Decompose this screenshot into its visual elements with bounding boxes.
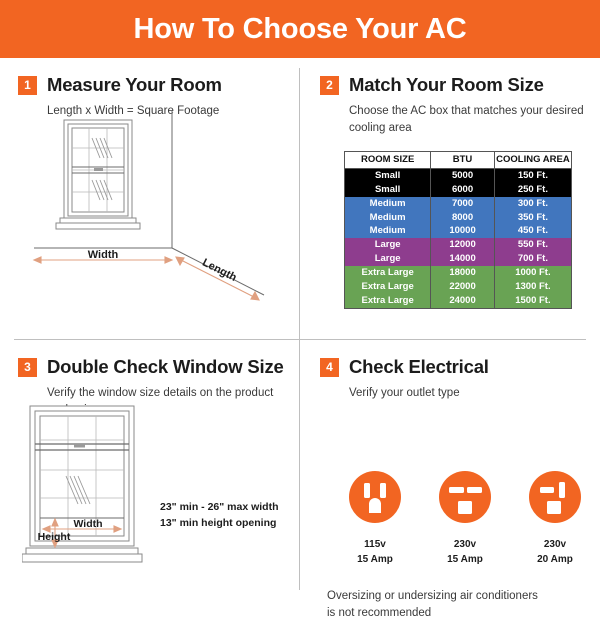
cell-area: 700 Ft. bbox=[494, 252, 571, 266]
content-grid: 1 Measure Your Room Length x Width = Squ… bbox=[0, 58, 600, 600]
cell-room-size: Extra Large bbox=[345, 266, 431, 280]
step-3-header: 3 Double Check Window Size bbox=[0, 340, 299, 378]
step-3-badge: 3 bbox=[18, 358, 37, 377]
step-4-title: Check Electrical bbox=[349, 356, 489, 378]
step-3-panel: 3 Double Check Window Size Verify the wi… bbox=[0, 340, 299, 600]
outlet-2-caption: 230v 15 Amp bbox=[425, 538, 505, 567]
step-2-header: 2 Match Your Room Size bbox=[300, 58, 600, 96]
cell-btu: 22000 bbox=[431, 280, 495, 294]
step-2-badge: 2 bbox=[320, 76, 339, 95]
cell-room-size: Medium bbox=[345, 211, 431, 225]
cell-btu: 12000 bbox=[431, 238, 495, 252]
col-btu: BTU bbox=[431, 152, 495, 169]
step-1-title: Measure Your Room bbox=[47, 74, 222, 96]
outlet-1-caption: 115v 15 Amp bbox=[335, 538, 415, 567]
table-row: Medium 7000 300 Ft. bbox=[345, 197, 572, 211]
step-4-subtitle: Verify your outlet type bbox=[349, 385, 600, 402]
cell-room-size: Small bbox=[345, 183, 431, 197]
window-size-diagram: Width Height bbox=[22, 400, 162, 570]
cell-btu: 5000 bbox=[431, 168, 495, 182]
window-height-label: Height bbox=[38, 531, 71, 543]
step-1-panel: 1 Measure Your Room Length x Width = Squ… bbox=[0, 58, 299, 339]
cell-area: 1300 Ft. bbox=[494, 280, 571, 294]
outlet-230v-15amp-icon bbox=[438, 470, 492, 524]
table-row: Large 12000 550 Ft. bbox=[345, 238, 572, 252]
outlet-3-amps: 20 Amp bbox=[515, 553, 595, 568]
outlet-option-3: 230v 20 Amp bbox=[515, 470, 595, 567]
cell-room-size: Extra Large bbox=[345, 294, 431, 308]
page-title: How To Choose Your AC bbox=[133, 13, 466, 46]
table-row: Extra Large 24000 1500 Ft. bbox=[345, 294, 572, 308]
cell-room-size: Small bbox=[345, 168, 431, 182]
step-4-badge: 4 bbox=[320, 358, 339, 377]
cell-btu: 8000 bbox=[431, 211, 495, 225]
cell-area: 1500 Ft. bbox=[494, 294, 571, 308]
step-1-badge: 1 bbox=[18, 76, 37, 95]
step-2-subtitle: Choose the AC box that matches your desi… bbox=[349, 103, 600, 136]
step-3-title: Double Check Window Size bbox=[47, 356, 284, 378]
table-row: Extra Large 18000 1000 Ft. bbox=[345, 266, 572, 280]
table-row: Medium 10000 450 Ft. bbox=[345, 224, 572, 238]
outlet-2-volts: 230v bbox=[425, 538, 505, 553]
cell-area: 300 Ft. bbox=[494, 197, 571, 211]
window-width-label: Width bbox=[73, 518, 102, 530]
room-measurement-diagram: Width Length bbox=[14, 110, 294, 310]
step-4-panel: 4 Check Electrical Verify your outlet ty… bbox=[300, 340, 600, 600]
table-row: Small 5000 150 Ft. bbox=[345, 168, 572, 182]
cell-btu: 18000 bbox=[431, 266, 495, 280]
outlet-types-group: 115v 15 Amp 230v 15 Amp bbox=[330, 470, 600, 567]
table-row: Extra Large 22000 1300 Ft. bbox=[345, 280, 572, 294]
step-2-title: Match Your Room Size bbox=[349, 74, 544, 96]
cell-room-size: Large bbox=[345, 238, 431, 252]
cell-room-size: Medium bbox=[345, 197, 431, 211]
window-dimension-note: 23" min - 26" max width 13" min height o… bbox=[160, 500, 279, 532]
cell-btu: 10000 bbox=[431, 224, 495, 238]
table-row: Large 14000 700 Ft. bbox=[345, 252, 572, 266]
table-header-row: ROOM SIZE BTU COOLING AREA bbox=[345, 152, 572, 169]
width-label: Width bbox=[88, 249, 119, 261]
oversizing-note-line1: Oversizing or undersizing air conditione… bbox=[327, 588, 538, 605]
oversizing-note-line2: is not recommended bbox=[327, 605, 538, 622]
oversizing-note: Oversizing or undersizing air conditione… bbox=[327, 588, 538, 623]
col-room-size: ROOM SIZE bbox=[345, 152, 431, 169]
outlet-3-volts: 230v bbox=[515, 538, 595, 553]
outlet-2-amps: 15 Amp bbox=[425, 553, 505, 568]
cell-room-size: Medium bbox=[345, 224, 431, 238]
cell-btu: 24000 bbox=[431, 294, 495, 308]
cell-area: 450 Ft. bbox=[494, 224, 571, 238]
btu-sizing-table: ROOM SIZE BTU COOLING AREA Small 5000 15… bbox=[344, 151, 572, 309]
cell-area: 1000 Ft. bbox=[494, 266, 571, 280]
outlet-115v-15amp-icon bbox=[348, 470, 402, 524]
cell-area: 550 Ft. bbox=[494, 238, 571, 252]
table-row: Small 6000 250 Ft. bbox=[345, 183, 572, 197]
cell-area: 150 Ft. bbox=[494, 168, 571, 182]
outlet-1-amps: 15 Amp bbox=[335, 553, 415, 568]
col-cooling-area: COOLING AREA bbox=[494, 152, 571, 169]
outlet-option-2: 230v 15 Amp bbox=[425, 470, 505, 567]
outlet-3-caption: 230v 20 Amp bbox=[515, 538, 595, 567]
cell-area: 350 Ft. bbox=[494, 211, 571, 225]
step-1-header: 1 Measure Your Room bbox=[0, 58, 299, 96]
cell-btu: 7000 bbox=[431, 197, 495, 211]
note-height-line: 13" min height opening bbox=[160, 516, 279, 532]
cell-btu: 14000 bbox=[431, 252, 495, 266]
cell-area: 250 Ft. bbox=[494, 183, 571, 197]
cell-room-size: Large bbox=[345, 252, 431, 266]
outlet-1-volts: 115v bbox=[335, 538, 415, 553]
table-row: Medium 8000 350 Ft. bbox=[345, 211, 572, 225]
outlet-230v-20amp-icon bbox=[528, 470, 582, 524]
note-width-line: 23" min - 26" max width bbox=[160, 500, 279, 516]
header-banner: How To Choose Your AC bbox=[0, 0, 600, 58]
cell-btu: 6000 bbox=[431, 183, 495, 197]
cell-room-size: Extra Large bbox=[345, 280, 431, 294]
step-2-panel: 2 Match Your Room Size Choose the AC box… bbox=[300, 58, 600, 339]
step-4-header: 4 Check Electrical bbox=[300, 340, 600, 378]
outlet-option-1: 115v 15 Amp bbox=[335, 470, 415, 567]
